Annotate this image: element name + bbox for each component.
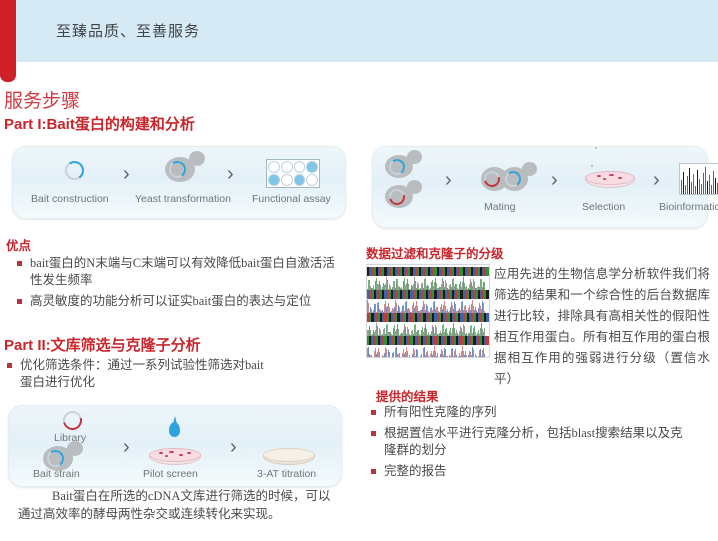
workflow-panel-part1: Bait construction › Yeast transformation…: [12, 146, 346, 219]
colony: [179, 454, 183, 456]
colony: [603, 178, 606, 180]
chevron-right-icon: ›: [551, 169, 558, 192]
yeast-bud-icon: [189, 151, 205, 166]
trace-wave: [367, 323, 489, 337]
plate-well: [294, 161, 306, 173]
data-filter-paragraph: 应用先进的生物信息学分析软件我们将筛选的结果和一个综合性的后台数据库进行比较，排…: [494, 264, 710, 390]
petri-dish-plain-icon: [263, 448, 313, 465]
colony: [165, 455, 168, 457]
step-label: 3-AT titration: [257, 468, 316, 480]
list-item: 优化筛选条件：通过一系列试验性筛选对bait蛋白进行优化: [4, 357, 270, 391]
plate-well: [306, 161, 318, 173]
workflow-panel-part1b: › Mating › Selection ›: [372, 146, 708, 228]
colony: [159, 452, 163, 454]
step-label: Bioinformatic analysis: [659, 201, 718, 213]
plasmid-red-arc-icon: [60, 408, 86, 434]
bioinformatic-trace-icon: [679, 163, 718, 195]
plate-well: [268, 161, 280, 173]
plate-well: [306, 174, 318, 186]
trace-wave: [367, 277, 489, 291]
step-label: Yeast transformation: [135, 193, 231, 205]
colony: [597, 175, 601, 177]
plasmid-blue-arc-icon: [63, 159, 85, 181]
page-title: 服务步骤: [4, 86, 80, 113]
yeast-bud-icon: [407, 150, 422, 164]
basecall-band: [367, 313, 489, 322]
list-item: bait蛋白的N末端与C末端可以有效降低bait蛋白自激活活性发生频率: [14, 255, 344, 289]
part2-list: 优化筛选条件：通过一系列试验性筛选对bait蛋白进行优化: [4, 357, 334, 395]
chevron-right-icon: ›: [227, 163, 234, 186]
heading-advantages: 优点: [6, 235, 31, 254]
list-item: 根据置信水平进行克隆分析，包括blast搜索结果以及克隆群的划分: [368, 425, 684, 459]
step-label: Selection: [582, 201, 625, 213]
yeast-bud-icon: [522, 162, 537, 176]
yeast-bud-icon: [67, 441, 83, 456]
step-label: Pilot screen: [143, 468, 198, 480]
chromatogram-trace-icon: [595, 147, 597, 149]
basecall-band: [367, 267, 489, 276]
part2-paragraph: Bait蛋白在所选的cDNA文库进行筛选的时候，可以通过高效率的酵母两性杂交或连…: [18, 487, 338, 523]
chevron-right-icon: ›: [123, 163, 130, 186]
heading-part-1: Part I:Bait蛋白的构建和分析: [4, 113, 195, 134]
advantages-list: bait蛋白的N末端与C末端可以有效降低bait蛋白自激活活性发生频率 高灵敏度…: [14, 255, 344, 314]
trace-wave: [367, 346, 489, 358]
trace-wave: [367, 300, 489, 314]
colony: [618, 177, 622, 179]
colony: [169, 451, 174, 453]
banner-title: 至臻品质、至善服务: [56, 20, 200, 41]
basecall-band: [367, 336, 489, 345]
step-label: Bait construction: [31, 193, 109, 205]
list-item: 所有阳性克隆的序列: [368, 404, 708, 421]
plate-well: [294, 174, 306, 186]
step-label: Functional assay: [252, 193, 331, 205]
heading-results-provided: 提供的结果: [376, 386, 439, 405]
droplet-icon: [169, 422, 180, 437]
list-item: 完整的报告: [368, 463, 708, 480]
plate-well: [268, 174, 280, 186]
chevron-right-icon: ›: [445, 169, 452, 192]
sequencing-chromatogram-image: [366, 264, 490, 358]
basecall-band: [367, 290, 489, 299]
results-list: 所有阳性克隆的序列 根据置信水平进行克隆分析，包括blast搜索结果以及克隆群的…: [368, 404, 708, 484]
red-accent-bar: [0, 0, 16, 82]
step-label: Bait strain: [33, 468, 80, 480]
chevron-right-icon: ›: [653, 169, 660, 192]
list-item: 高灵敏度的功能分析可以证实bait蛋白的表达与定位: [14, 293, 344, 310]
plate-well: [281, 174, 293, 186]
slide-page: 至臻品质、至善服务 服务步骤 Part I:Bait蛋白的构建和分析 Part …: [0, 0, 718, 541]
colony: [187, 452, 191, 454]
heading-part-2: Part II:文库筛选与克隆子分析: [4, 334, 201, 355]
chromatogram-icon: [591, 165, 593, 167]
heading-data-filter: 数据过滤和克隆子的分级: [366, 243, 504, 262]
step-label: Mating: [484, 201, 516, 213]
colony: [609, 174, 614, 176]
plate-well: [281, 161, 293, 173]
petri-dish-icon: [585, 171, 633, 188]
yeast-bud-icon: [407, 180, 422, 194]
petri-dish-droplet-icon: [149, 448, 199, 465]
chevron-right-icon: ›: [230, 436, 237, 459]
workflow-panel-part2: Library Bait strain › Pilot screen › 3-A…: [8, 405, 342, 487]
chevron-right-icon: ›: [123, 436, 130, 459]
microplate-icon: [266, 159, 320, 188]
